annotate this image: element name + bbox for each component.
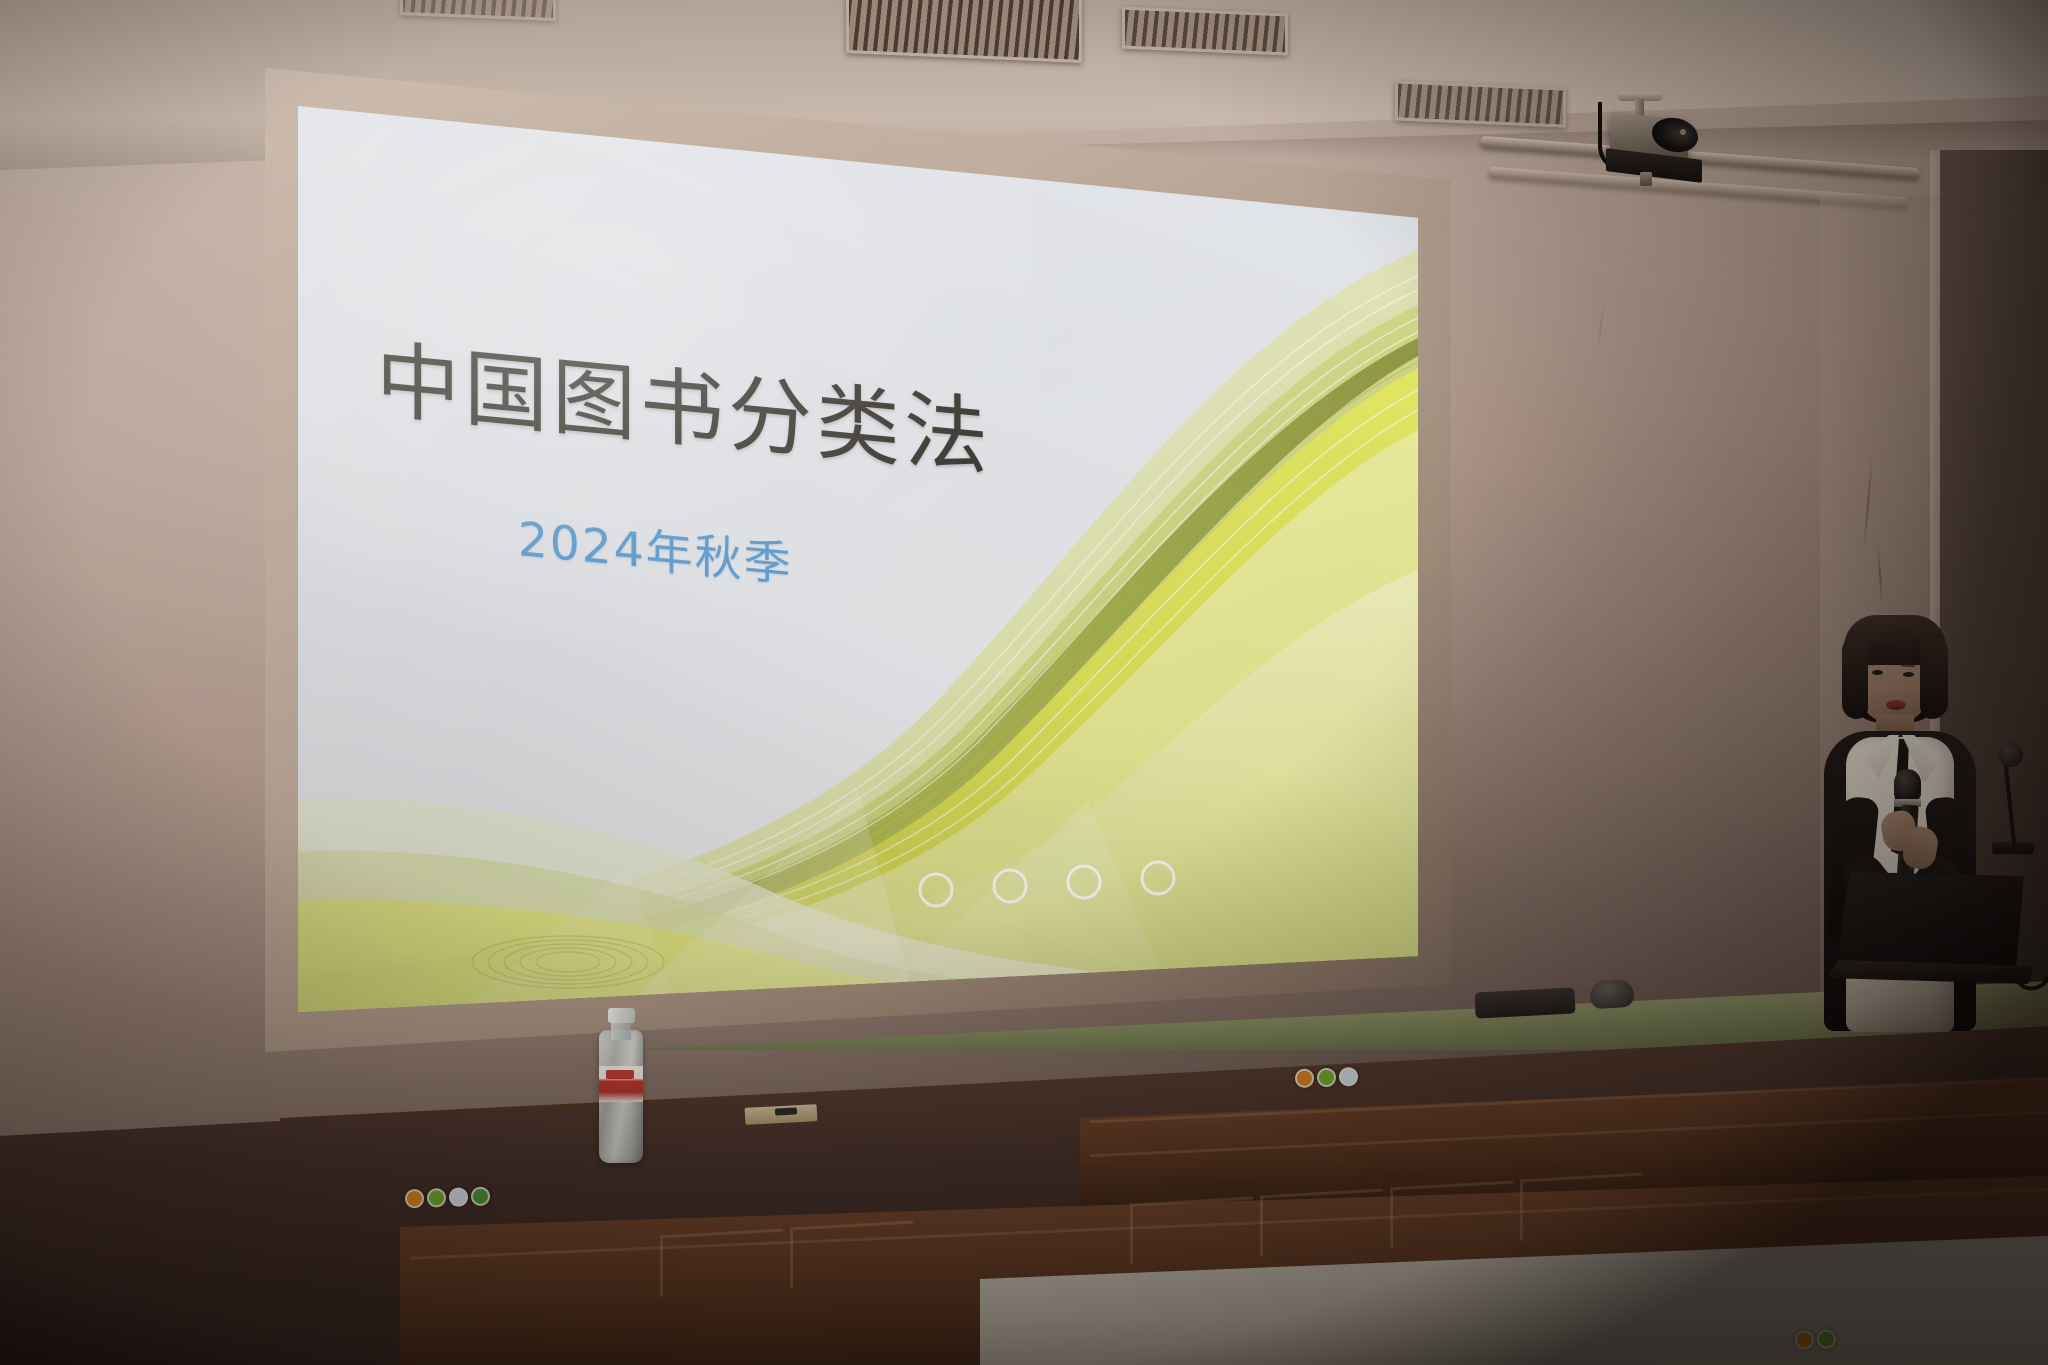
camera-lens-glint	[1680, 129, 1686, 135]
usb-dongle-icon	[1474, 987, 1575, 1018]
indicator-dot-darkgreen[interactable]	[471, 1187, 491, 1207]
presenter-eye	[1872, 670, 1883, 675]
projection-screen-surface[interactable]: 中国图书分类法 2024年秋季	[298, 100, 1418, 1012]
bottle-cap	[608, 1008, 635, 1023]
indicator-dot-green[interactable]	[1817, 1329, 1837, 1349]
indicator-dot-orange[interactable]	[1295, 1068, 1315, 1088]
ceiling-vent-grille	[846, 0, 1082, 63]
indicator-dot-orange[interactable]	[405, 1189, 425, 1209]
bench-chevron-panel	[1130, 1197, 1253, 1265]
slide-wave-decoration	[298, 100, 1418, 1012]
laptop-screen[interactable]	[1836, 872, 2024, 968]
computer-mouse-icon[interactable]	[1589, 978, 1635, 1009]
water-bottle-icon	[595, 1008, 647, 1163]
gooseneck-microphone-capsule	[1998, 742, 2023, 767]
bottle-label-brandmark	[606, 1070, 634, 1079]
presentation-slide: 中国图书分类法 2024年秋季	[298, 100, 1418, 1012]
presenter-hair-side	[1920, 637, 1948, 719]
indicator-dot-white[interactable]	[449, 1187, 469, 1207]
indicator-dot-green[interactable]	[1317, 1068, 1337, 1088]
ceiling-vent-grille	[1395, 80, 1566, 127]
presenter-mouth	[1886, 700, 1906, 710]
indicator-dot-green[interactable]	[427, 1188, 447, 1208]
presenter-hair-side	[1842, 637, 1868, 719]
camera-mount-bolt	[1640, 172, 1652, 186]
lecture-hall-scene: 中国图书分类法 2024年秋季	[0, 0, 2048, 1365]
ptz-camera-icon	[1600, 96, 1730, 186]
bench-chevron-panel	[790, 1221, 913, 1289]
presenter-remote-button[interactable]	[775, 1107, 797, 1115]
ceiling-vent-grille	[1122, 7, 1288, 56]
desk-indicator-dots[interactable]	[405, 1187, 491, 1209]
indicator-dot-orange[interactable]	[1795, 1330, 1815, 1350]
indicator-dot-white[interactable]	[1339, 1067, 1359, 1087]
presenter-eye	[1903, 672, 1914, 677]
bench-chevron-panel	[660, 1229, 783, 1297]
desk-indicator-dots[interactable]	[1295, 1067, 1359, 1088]
laptop-icon[interactable]	[1828, 872, 2038, 992]
desk-indicator-dots[interactable]	[1795, 1329, 1837, 1349]
handheld-microphone-icon	[1894, 769, 1921, 802]
